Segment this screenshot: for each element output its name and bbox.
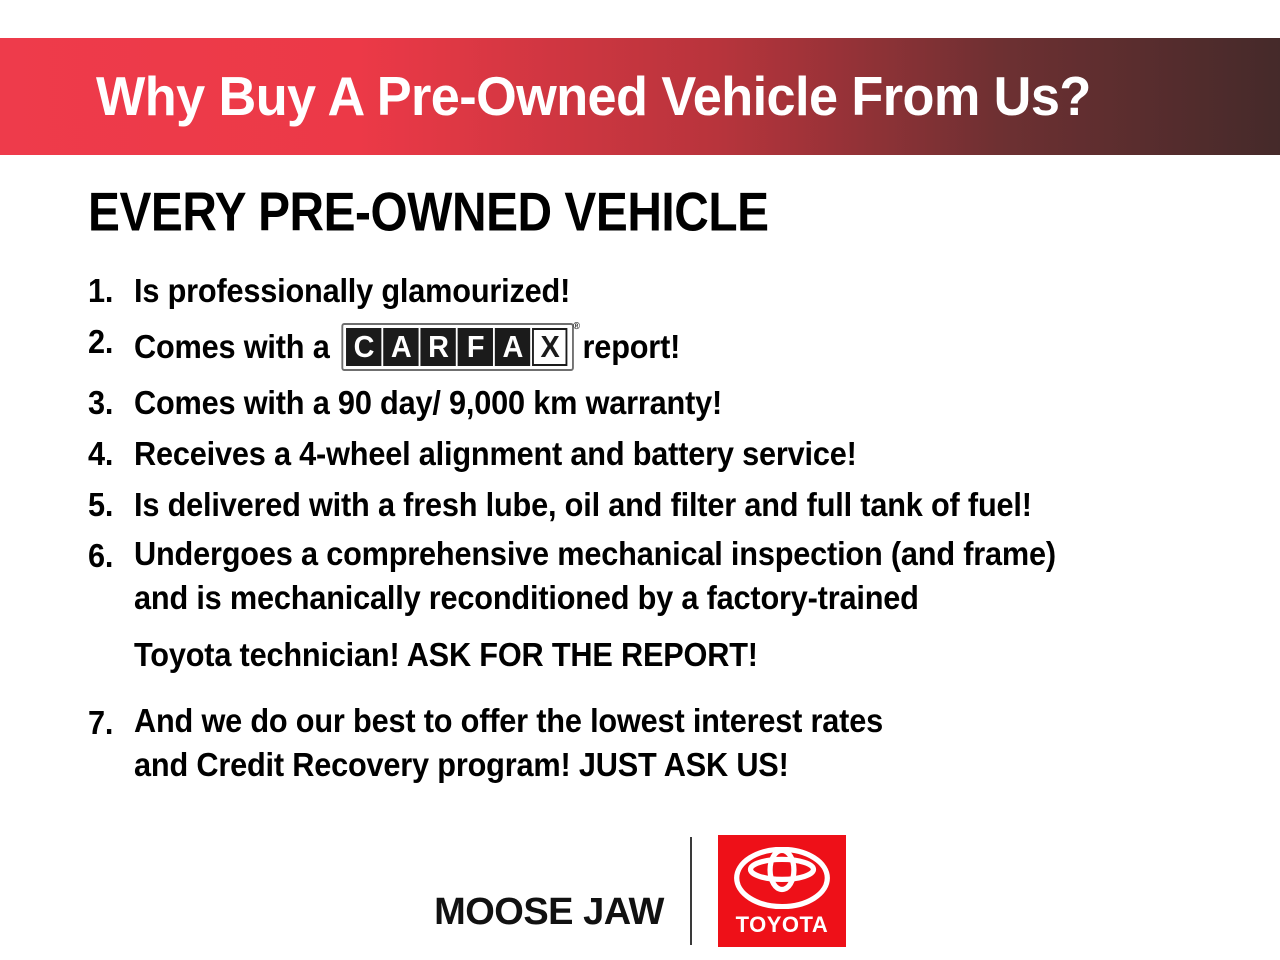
list-item: 1. Is professionally glamourized! [88,272,1258,310]
list-item: 2. Comes with a C A R F A X ® report! [88,323,1258,371]
carfax-letter-a1: A [384,328,419,366]
carfax-letter-c: C [346,328,381,366]
list-item-text: Is delivered with a fresh lube, oil and … [134,486,1179,524]
list-item: 4. Receives a 4-wheel alignment and batt… [88,435,1258,473]
carfax-text-before: Comes with a [134,328,330,366]
carfax-letter-r: R [421,328,456,366]
list-item-number: 1. [88,272,131,310]
list-item-line: Toyota technician! ASK FOR THE REPORT! [134,627,1179,684]
footer-branding: MOOSE JAW TOYOTA [0,826,1280,956]
list-item-line: And we do our best to offer the lowest i… [134,704,1179,737]
list-item-text: And we do our best to offer the lowest i… [134,704,1179,794]
list-item-text: Is professionally glamourized! [134,272,1179,310]
vertical-divider [690,837,692,945]
header-banner: Why Buy A Pre-Owned Vehicle From Us? [0,38,1280,155]
list-item-number: 6. [88,537,131,575]
benefits-list: 1. Is professionally glamourized! 2. Com… [88,272,1258,809]
list-item-number: 3. [88,384,131,422]
list-item-number: 4. [88,435,131,473]
list-item-number: 2. [88,323,131,361]
carfax-text-after: report! [583,328,681,366]
list-item-line: Undergoes a comprehensive mechanical ins… [134,537,1179,570]
list-item-text: Receives a 4-wheel alignment and battery… [134,435,1179,473]
carfax-letter-x: X [532,328,567,366]
carfax-letter-f: F [458,328,493,366]
list-item-line: and Credit Recovery program! JUST ASK US… [134,737,1179,794]
list-item-text: Undergoes a comprehensive mechanical ins… [134,537,1179,684]
main-heading: EVERY PRE-OWNED VEHICLE [88,185,769,240]
toyota-wordmark: TOYOTA [736,914,829,936]
carfax-line: Comes with a C A R F A X ® report! [134,323,1179,371]
dealer-name: MOOSE JAW [434,891,664,934]
list-item: 5. Is delivered with a fresh lube, oil a… [88,486,1258,524]
list-item-line: and is mechanically reconditioned by a f… [134,570,1179,627]
list-item-text: Comes with a C A R F A X ® report! [134,323,1179,371]
registered-trademark-icon: ® [573,322,580,332]
list-item-text: Comes with a 90 day/ 9,000 km warranty! [134,384,1179,422]
page-title: Why Buy A Pre-Owned Vehicle From Us? [96,69,1091,124]
list-item: 7. And we do our best to offer the lowes… [88,704,1258,794]
carfax-letter-a2: A [495,328,530,366]
carfax-logo: C A R F A X ® [342,323,575,371]
list-item-number: 7. [88,704,131,742]
list-item-number: 5. [88,486,131,524]
list-item: 3. Comes with a 90 day/ 9,000 km warrant… [88,384,1258,422]
toyota-emblem-icon [734,847,830,909]
toyota-logo: TOYOTA [718,835,846,947]
list-item: 6. Undergoes a comprehensive mechanical … [88,537,1258,684]
